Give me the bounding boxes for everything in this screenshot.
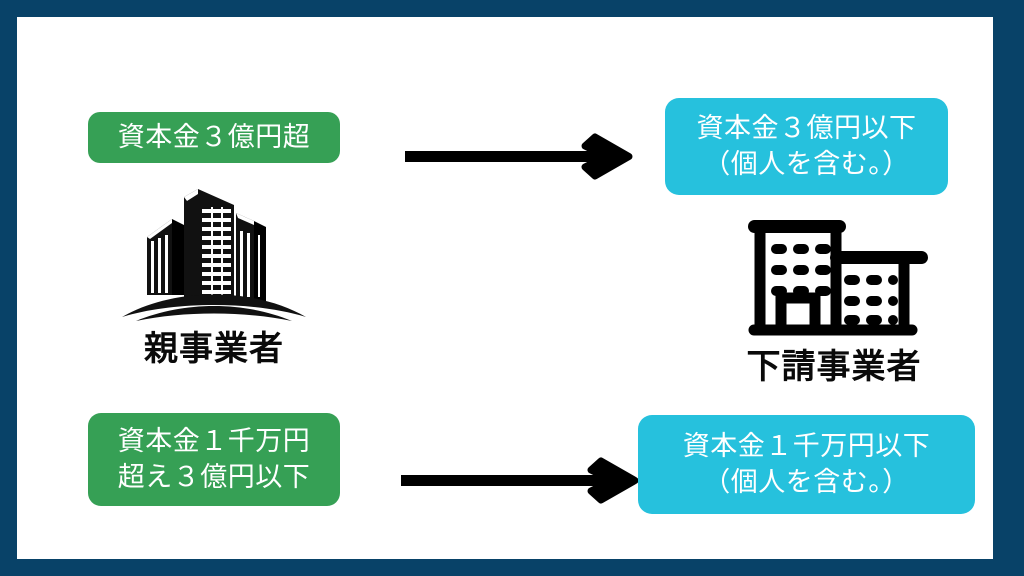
chip-line: 資本金３億円以下: [697, 111, 917, 146]
skyscraper-cluster-icon: [114, 175, 314, 330]
chip-sub-capital-10m-or-less: 資本金１千万円以下 （個人を含む。）: [638, 415, 975, 514]
chip-line: （個人を含む。）: [703, 465, 910, 500]
slide-canvas: 資本金３億円超: [17, 17, 993, 559]
chip-line: 資本金１千万円以下: [683, 429, 931, 464]
office-buildings-icon: [736, 203, 932, 346]
entity-subcontractor-company: 下請事業者: [709, 203, 959, 384]
chip-parent-capital-10m-to-300m: 資本金１千万円 超え３億円以下: [88, 413, 340, 506]
chip-line: （個人を含む。）: [703, 147, 910, 182]
chip-line: 資本金３億円超: [118, 120, 311, 155]
arrow-right-icon: [399, 453, 641, 514]
slide-frame: 資本金３億円超: [0, 0, 1024, 576]
arrow-right-icon: [403, 129, 635, 190]
chip-line: 超え３億円以下: [118, 460, 311, 495]
chip-sub-capital-300m-or-less: 資本金３億円以下 （個人を含む。）: [665, 98, 948, 195]
entity-parent-company: 親事業者: [88, 175, 340, 366]
chip-line: 資本金１千万円: [118, 424, 311, 459]
entity-parent-caption: 親事業者: [144, 332, 284, 366]
entity-subcontractor-caption: 下請事業者: [747, 350, 922, 384]
chip-parent-capital-over-300m: 資本金３億円超: [88, 112, 340, 163]
